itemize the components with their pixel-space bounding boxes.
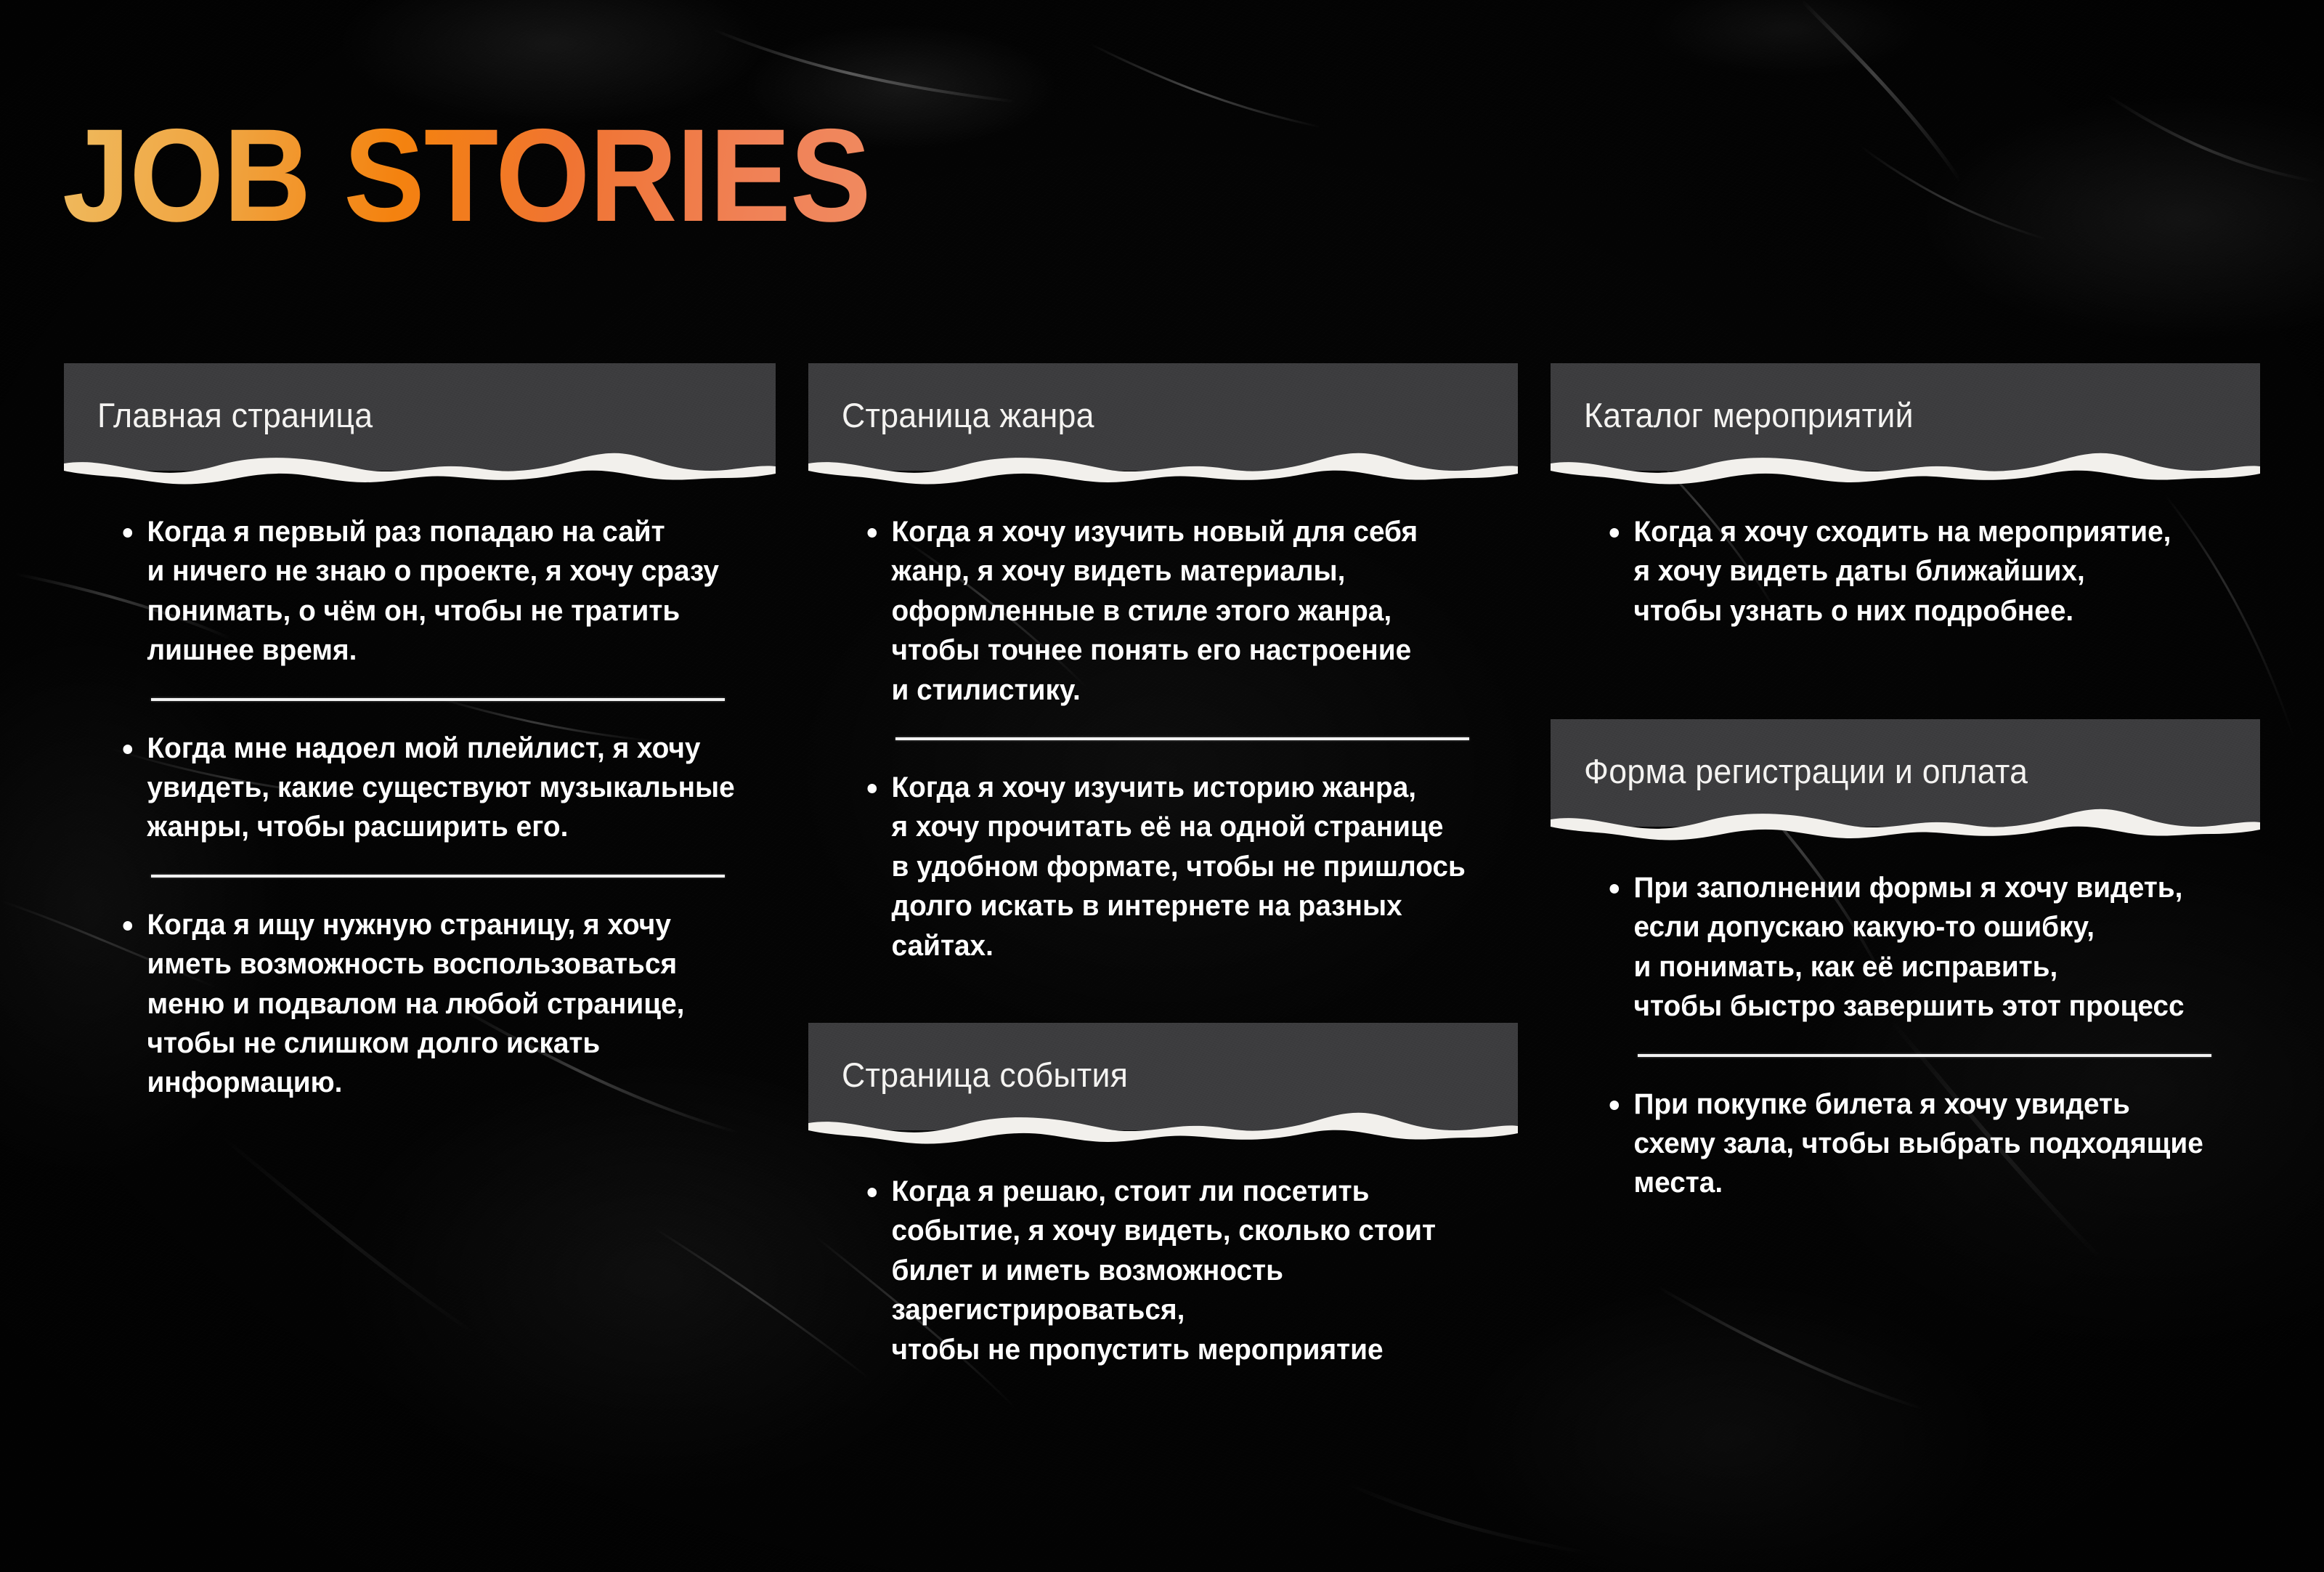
bullet-divider: [151, 698, 725, 701]
list-item: Когда я хочу изучить историю жанра, я хо…: [808, 768, 1497, 965]
card-stranitsa-zhanra: Страница жанра Когда я хочу изучить новы…: [808, 363, 1518, 471]
slide-canvas: JOB STORIES Главная страница Когда я пер…: [0, 0, 2324, 1572]
list-item: При покупке билета я хочу увидеть схему …: [1551, 1085, 2239, 1203]
bullet-divider: [1638, 1054, 2211, 1057]
card-title: Страница жанра: [842, 395, 1094, 435]
list-item: Когда я ищу нужную страницу, я хочу имет…: [64, 905, 755, 1103]
card-header: Форма регистрации и оплата: [1551, 719, 2260, 827]
bullet-divider: [895, 737, 1469, 740]
card-header: Главная страница: [64, 363, 776, 471]
list-item: Когда я хочу изучить новый для себя жанр…: [808, 512, 1497, 710]
card-stranitsa-sobytiya: Страница события Когда я решаю, стоит ли…: [808, 1023, 1518, 1130]
card-title: Главная страница: [97, 395, 373, 435]
card-katalog-meropriyatiy: Каталог мероприятий Когда я хочу сходить…: [1551, 363, 2260, 471]
list-item: Когда мне надоел мой плейлист, я хочу ув…: [64, 729, 755, 847]
card-glavnaya-stranitsa: Главная страница Когда я первый раз попа…: [64, 363, 776, 471]
card-title: Форма регистрации и оплата: [1584, 751, 2028, 791]
card-forma-registratsii: Форма регистрации и оплата При заполнени…: [1551, 719, 2260, 827]
card-bullet-list: Когда я решаю, стоит ли посетить событие…: [808, 1172, 1518, 1369]
list-item: Когда я первый раз попадаю на сайт и нич…: [64, 512, 755, 670]
card-bullet-list: Когда я хочу сходить на мероприятие, я х…: [1551, 512, 2260, 631]
card-header: Страница жанра: [808, 363, 1518, 471]
page-title: JOB STORIES: [62, 109, 871, 241]
bullet-divider: [151, 875, 725, 878]
card-bullet-list: Когда я хочу изучить новый для себя жанр…: [808, 512, 1518, 965]
list-item: Когда я решаю, стоит ли посетить событие…: [808, 1172, 1497, 1369]
card-title: Каталог мероприятий: [1584, 395, 1914, 435]
list-item: Когда я хочу сходить на мероприятие, я х…: [1551, 512, 2239, 631]
card-bullet-list: При заполнении формы я хочу видеть, если…: [1551, 868, 2260, 1203]
card-header: Страница события: [808, 1023, 1518, 1130]
card-bullet-list: Когда я первый раз попадаю на сайт и нич…: [64, 512, 776, 1103]
list-item: При заполнении формы я хочу видеть, если…: [1551, 868, 2239, 1026]
card-title: Страница события: [842, 1055, 1128, 1095]
card-header: Каталог мероприятий: [1551, 363, 2260, 471]
